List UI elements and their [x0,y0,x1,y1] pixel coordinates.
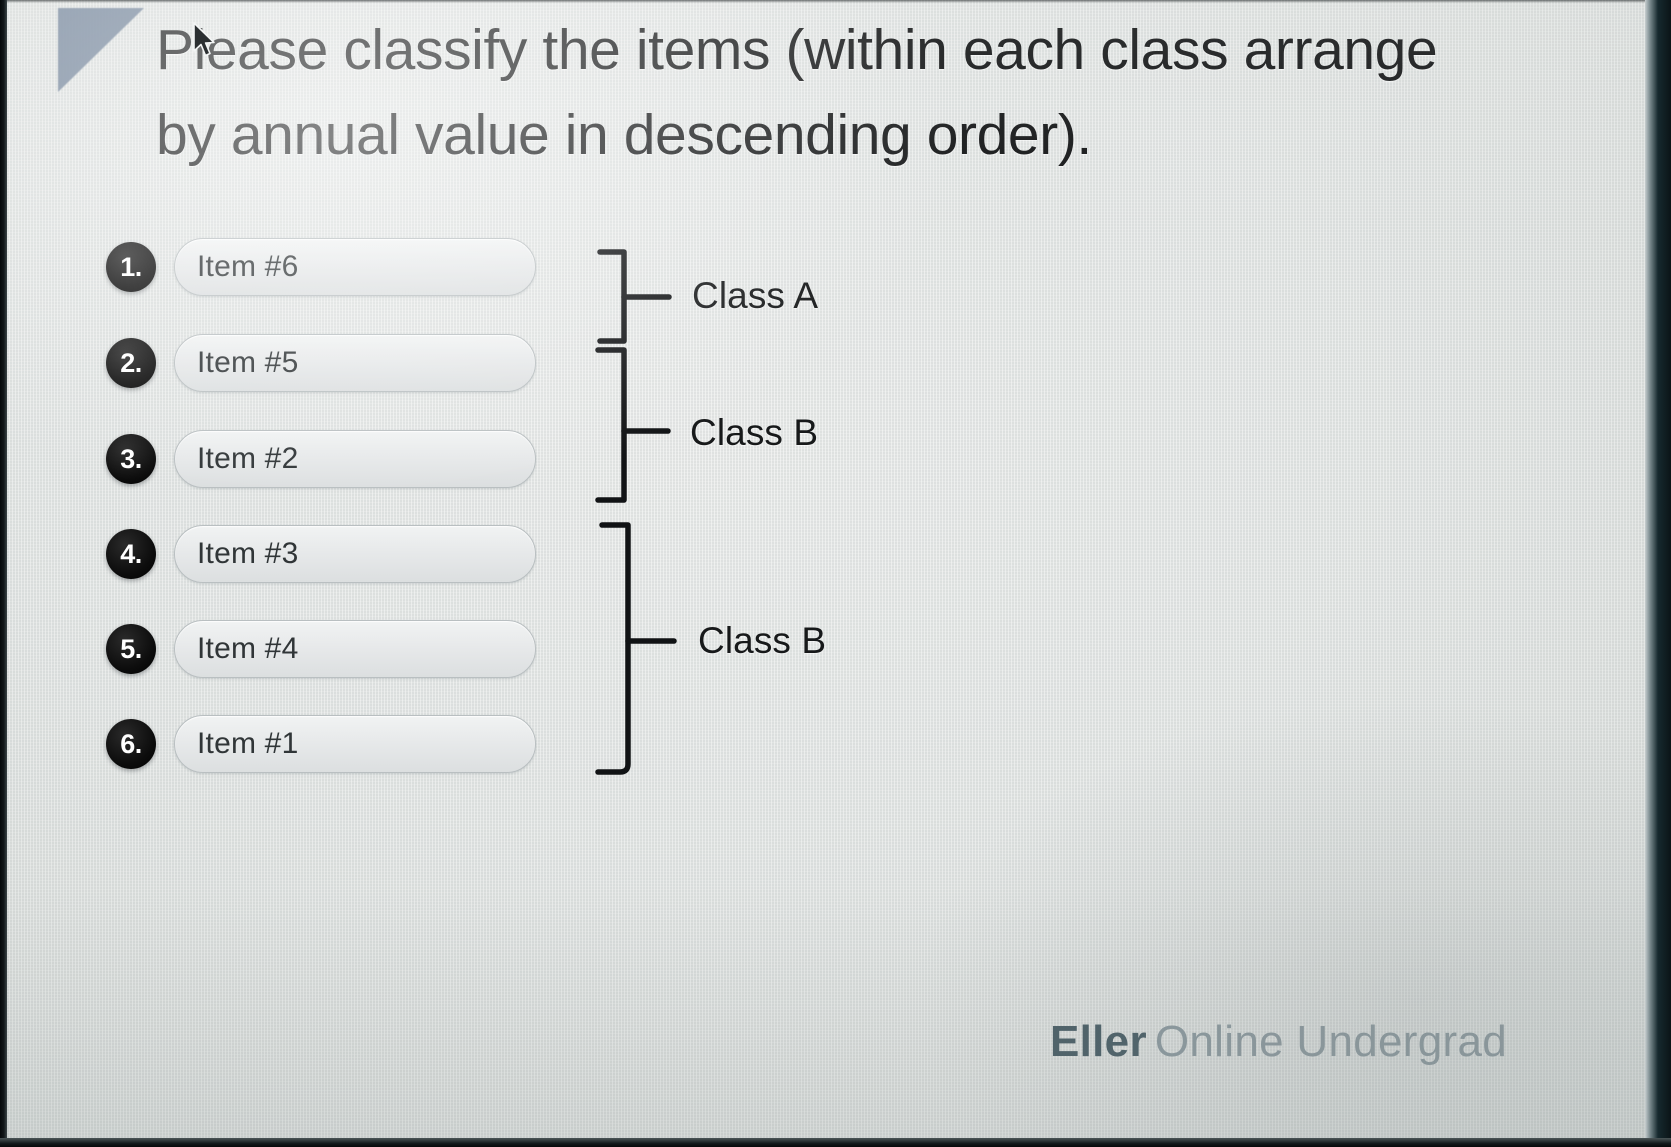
class-label-b-1: Class B [690,412,818,454]
page-title: Please classify the items (within each c… [156,8,1486,178]
screen-photograph: Please classify the items (within each c… [0,0,1671,1147]
screen-surface: Please classify the items (within each c… [6,0,1647,1139]
list-item[interactable]: 2. Item #5 [106,332,536,394]
item-label: Item #1 [197,727,298,761]
brace-class-a [600,252,624,341]
corner-triangle-decoration [58,8,144,92]
list-item[interactable]: 4. Item #3 [106,523,536,585]
rank-badge: 6. [106,719,156,769]
item-pill[interactable]: Item #2 [174,430,536,488]
logo-bold-text: Eller [1050,1017,1147,1066]
list-item[interactable]: 1. Item #6 [106,236,536,298]
item-label: Item #5 [197,346,298,380]
rank-badge: 5. [106,624,156,674]
item-label: Item #3 [197,537,298,571]
list-item[interactable]: 5. Item #4 [106,618,536,680]
brace-class-b-2 [598,525,628,772]
item-pill[interactable]: Item #6 [174,238,536,296]
list-item[interactable]: 6. Item #1 [106,713,536,775]
screen-bezel-bottom [0,1138,1671,1147]
rank-badge: 1. [106,242,156,292]
item-label: Item #2 [197,442,298,476]
class-label-a: Class A [692,275,818,317]
brace-class-b-1 [598,350,624,500]
list-item[interactable]: 3. Item #2 [106,428,536,490]
rank-badge: 3. [106,434,156,484]
item-pill[interactable]: Item #3 [174,525,536,583]
mouse-pointer-icon [192,22,218,60]
rank-badge: 4. [106,529,156,579]
class-label-b-2: Class B [698,620,826,662]
item-pill[interactable]: Item #4 [174,620,536,678]
rank-badge: 2. [106,338,156,388]
item-label: Item #6 [197,250,298,284]
item-pill[interactable]: Item #5 [174,334,536,392]
screen-bezel-right [1645,0,1671,1147]
item-pill[interactable]: Item #1 [174,715,536,773]
eller-logo: EllerOnline Undergrad [1050,1017,1507,1067]
item-label: Item #4 [197,632,298,666]
logo-light-text: Online Undergrad [1155,1017,1507,1066]
